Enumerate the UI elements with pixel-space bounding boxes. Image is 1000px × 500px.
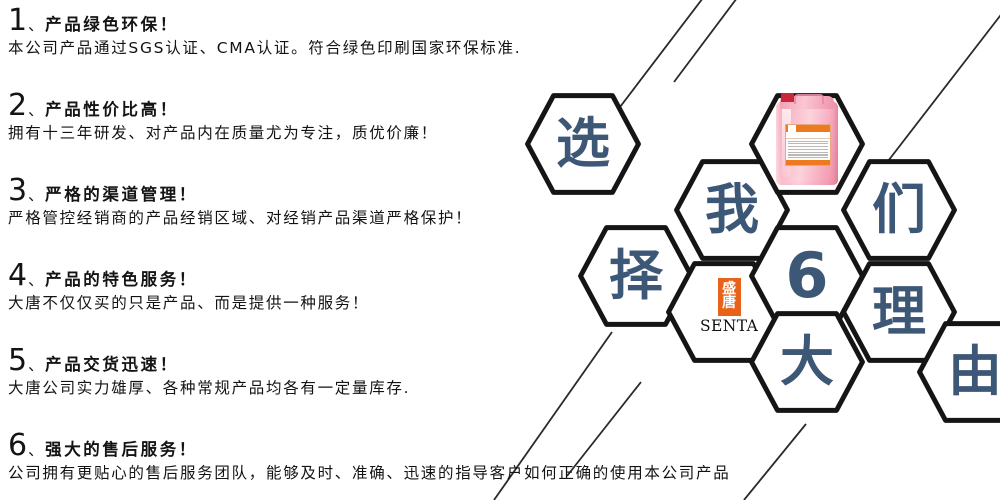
hex-cell-xuan: 选 — [524, 92, 642, 196]
product-label-text-lines — [786, 139, 830, 161]
product-label-header — [786, 125, 830, 132]
senta-wordmark: SENTA — [700, 317, 758, 335]
hex-outline — [840, 158, 958, 262]
hex-cell-men: 们 — [840, 158, 958, 262]
product-photo — [770, 93, 844, 193]
hex-outline — [916, 320, 1000, 424]
senta-logo: 盛 唐 SENTA — [700, 278, 758, 335]
product-cap — [781, 93, 794, 102]
hex-outline — [524, 92, 642, 196]
poster-canvas: 1 、 产品绿色环保！ 本公司产品通过SGS认证、CMA认证。符合绿色印刷国家环… — [0, 0, 1000, 500]
hex-cell-you: 由 — [916, 320, 1000, 424]
product-label-footer — [786, 160, 830, 165]
senta-seal-mark: 盛 唐 — [718, 278, 741, 316]
senta-seal-char-bottom: 唐 — [722, 296, 736, 310]
product-label — [785, 124, 831, 166]
honeycomb-graphic: 选择我6大们理由 — [0, 0, 1000, 500]
product-handle — [794, 94, 824, 104]
